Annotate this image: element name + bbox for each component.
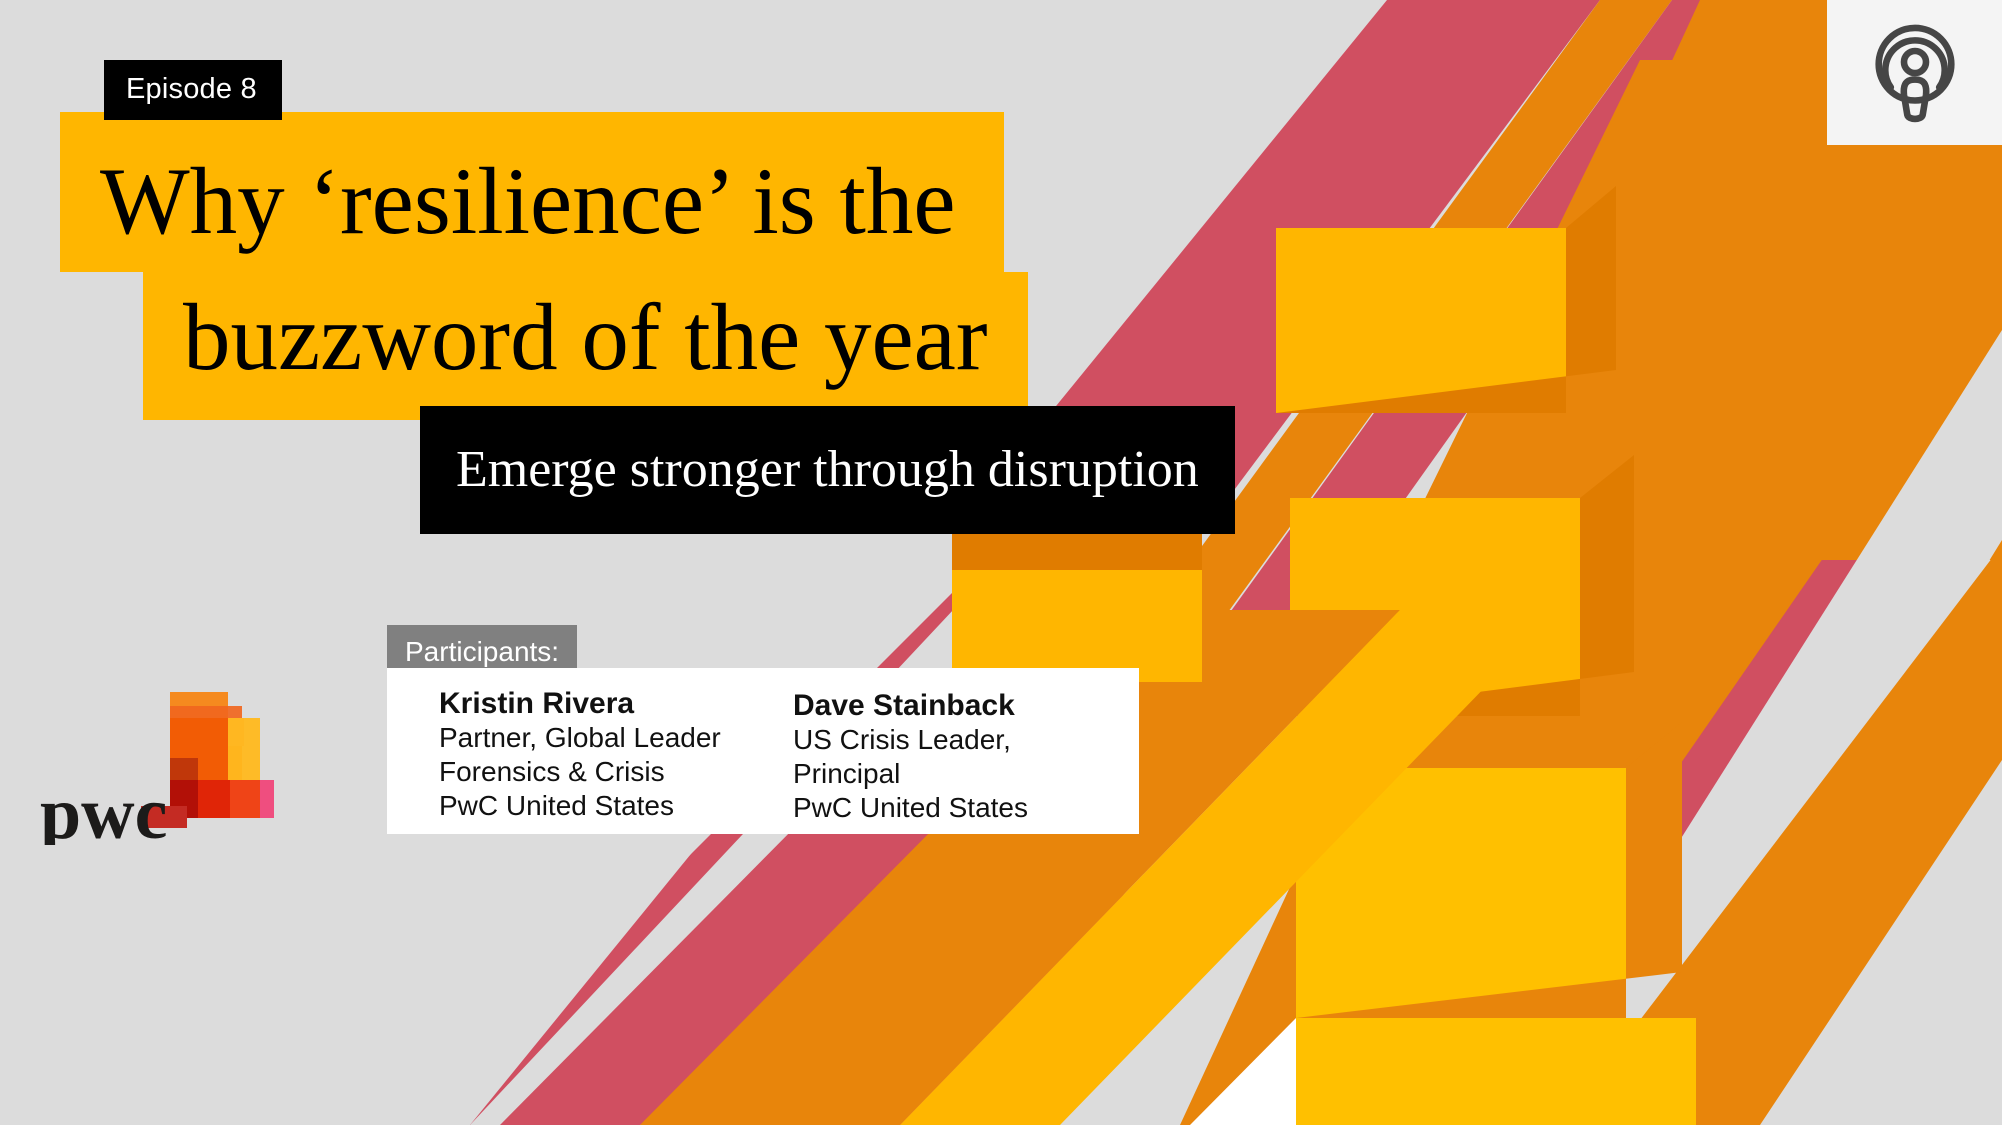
participants-panel: Kristin Rivera Partner, Global Leader Fo… (387, 668, 1139, 834)
pwc-logo: pwc (40, 680, 280, 845)
block-amber-bottom (1296, 1018, 1696, 1125)
page-title: Why ‘resilience’ is the buzzword of the … (0, 112, 1028, 420)
participant-name: Dave Stainback (793, 688, 1139, 723)
participant-kristin-rivera: Kristin Rivera Partner, Global Leader Fo… (387, 668, 759, 834)
title-line-1: Why ‘resilience’ is the (60, 112, 1004, 272)
pwc-logo-mark: pwc (40, 680, 280, 845)
participant-org: PwC United States (793, 791, 1139, 825)
participant-name: Kristin Rivera (439, 686, 759, 721)
title-line-2: buzzword of the year (143, 272, 1028, 420)
participant-dave-stainback: Dave Stainback US Crisis Leader, Princip… (759, 668, 1139, 834)
episode-badge: Episode 8 (104, 60, 282, 120)
subtitle-band: Emerge stronger through disruption (420, 406, 1235, 534)
podcast-badge[interactable] (1827, 0, 2002, 145)
logo-rect-rust (170, 758, 198, 780)
participant-role-line-2: Principal (793, 757, 1139, 791)
logo-rect-pink (260, 780, 274, 818)
participant-org: PwC United States (439, 789, 759, 823)
logo-rect-red-light (230, 780, 260, 818)
logo-rect-red (198, 780, 230, 818)
participant-role-line-2: Forensics & Crisis (439, 755, 759, 789)
block-amber-step-2 (952, 570, 1202, 682)
pwc-wordmark: pwc (40, 773, 167, 845)
podcast-icon (1860, 18, 1970, 128)
podcast-cover-poster: Episode 8 Why ‘resilience’ is the buzzwo… (0, 0, 2002, 1125)
logo-rect-yellow (228, 718, 260, 782)
participant-role-line-1: US Crisis Leader, (793, 723, 1139, 757)
participant-role-line-1: Partner, Global Leader (439, 721, 759, 755)
